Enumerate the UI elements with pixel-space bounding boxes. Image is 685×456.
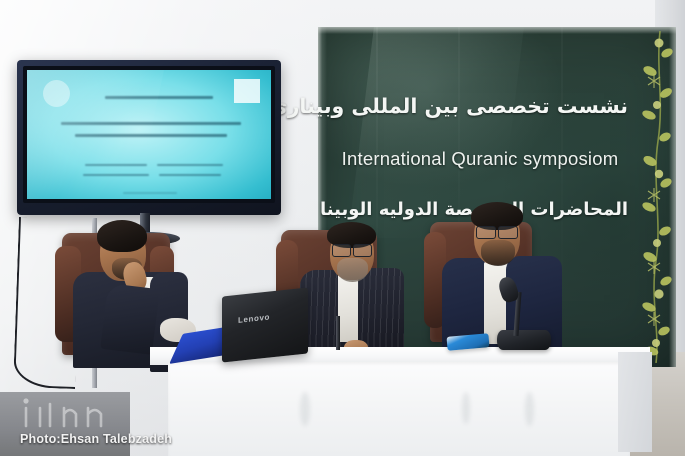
panelist-right-beard [481,240,515,266]
laptop-brand-label: Lenovo [238,312,270,324]
floral-vine-ornament [634,31,674,363]
panelist-right-glasses-left-lens [476,226,496,239]
photo-credit: Photo:Ehsan Talebzadeh [20,432,172,446]
panelist-right-glasses-right-lens [498,226,518,239]
monitor-screen [27,70,271,199]
panelist-left-hair [97,220,147,252]
panel-table-side [618,352,652,452]
banner-english-title: International Quranic symposiom [332,148,628,170]
monitor-bezel [23,66,275,203]
panelist-left-arm [100,283,160,355]
news-photograph: نشست تخصصی بین المللی وبیناری Internatio… [0,0,685,456]
iqna-watermark [18,392,106,430]
table-microphone-base [497,330,551,350]
panelist-center-beard [337,258,368,282]
laptop-computer: Lenovo [222,287,308,362]
banner-persian-title: نشست تخصصی بین المللی وبیناری [332,94,628,118]
panelist-center-glasses-right-lens [353,244,372,257]
slide-logo-right-icon [234,79,260,103]
table-microphone-secondary [336,316,340,350]
panelist-center-glasses-left-lens [332,244,351,257]
screen-glare [27,70,170,199]
presentation-monitor [17,60,281,215]
panel-table-front [168,362,630,456]
